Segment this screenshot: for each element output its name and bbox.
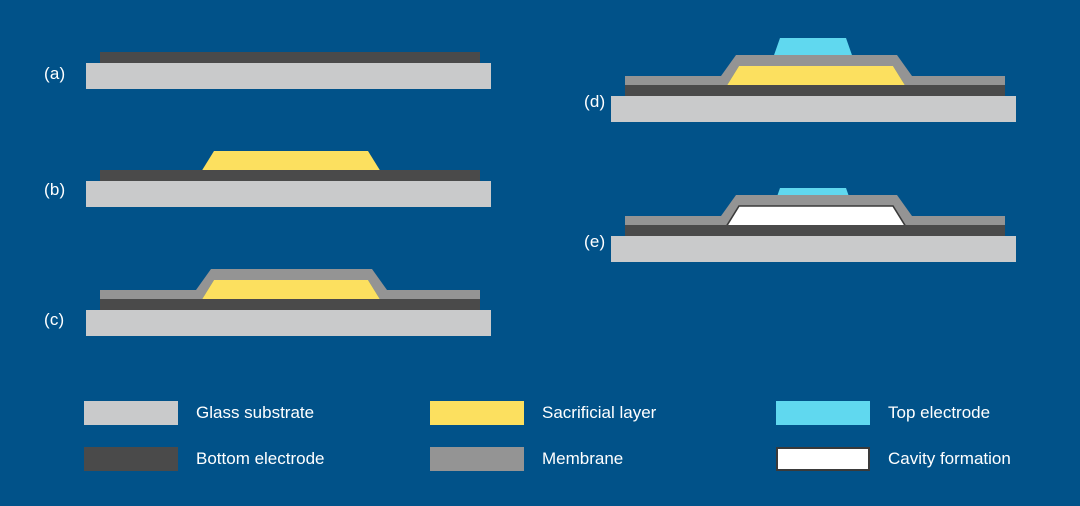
glass-substrate-layer [611,96,1016,122]
legend-item-sacrificial-layer: Sacrificial layer [430,401,776,425]
membrane-swatch [430,447,524,471]
glass-substrate-layer [86,63,491,89]
legend-label-top-electrode: Top electrode [888,403,990,423]
cavity-formation-swatch [776,447,870,471]
cavity-formation-layer [726,206,906,227]
glass-substrate-swatch [84,401,178,425]
panel-c-cross-section [0,252,540,352]
bottom-electrode-layer [625,85,1005,96]
bottom-electrode-layer [100,52,480,63]
sacrificial-layer [201,280,381,301]
legend-label-cavity-formation: Cavity formation [888,449,1011,469]
panel-e-cross-section [540,160,1080,275]
legend: Glass substrate Sacrificial layer Top el… [84,390,1034,482]
legend-item-glass-substrate: Glass substrate [84,401,430,425]
panel-a: (a) [0,0,540,120]
figure-canvas: (a) (b) (c) [0,0,1080,506]
panel-a-cross-section [0,0,540,120]
glass-substrate-layer [86,310,491,336]
bottom-electrode-swatch [84,447,178,471]
sacrificial-layer [201,151,381,172]
bottom-electrode-layer [100,170,480,181]
sacrificial-layer [726,66,906,87]
top-electrode-swatch [776,401,870,425]
legend-item-membrane: Membrane [430,447,776,471]
legend-item-cavity-formation: Cavity formation [776,447,1034,471]
legend-item-top-electrode: Top electrode [776,401,1034,425]
glass-substrate-layer [611,236,1016,262]
bottom-electrode-layer [625,225,1005,236]
bottom-electrode-layer [100,299,480,310]
panel-d-cross-section [540,20,1080,135]
legend-label-bottom-electrode: Bottom electrode [196,449,325,469]
panel-d: (d) [540,20,1080,135]
panel-e: (e) [540,160,1080,275]
legend-item-bottom-electrode: Bottom electrode [84,447,430,471]
panel-c: (c) [0,252,540,352]
glass-substrate-layer [86,181,491,207]
panel-b-cross-section [0,126,540,221]
legend-label-membrane: Membrane [542,449,623,469]
sacrificial-layer-swatch [430,401,524,425]
legend-label-sacrificial-layer: Sacrificial layer [542,403,656,423]
panel-b: (b) [0,126,540,221]
legend-label-glass-substrate: Glass substrate [196,403,314,423]
